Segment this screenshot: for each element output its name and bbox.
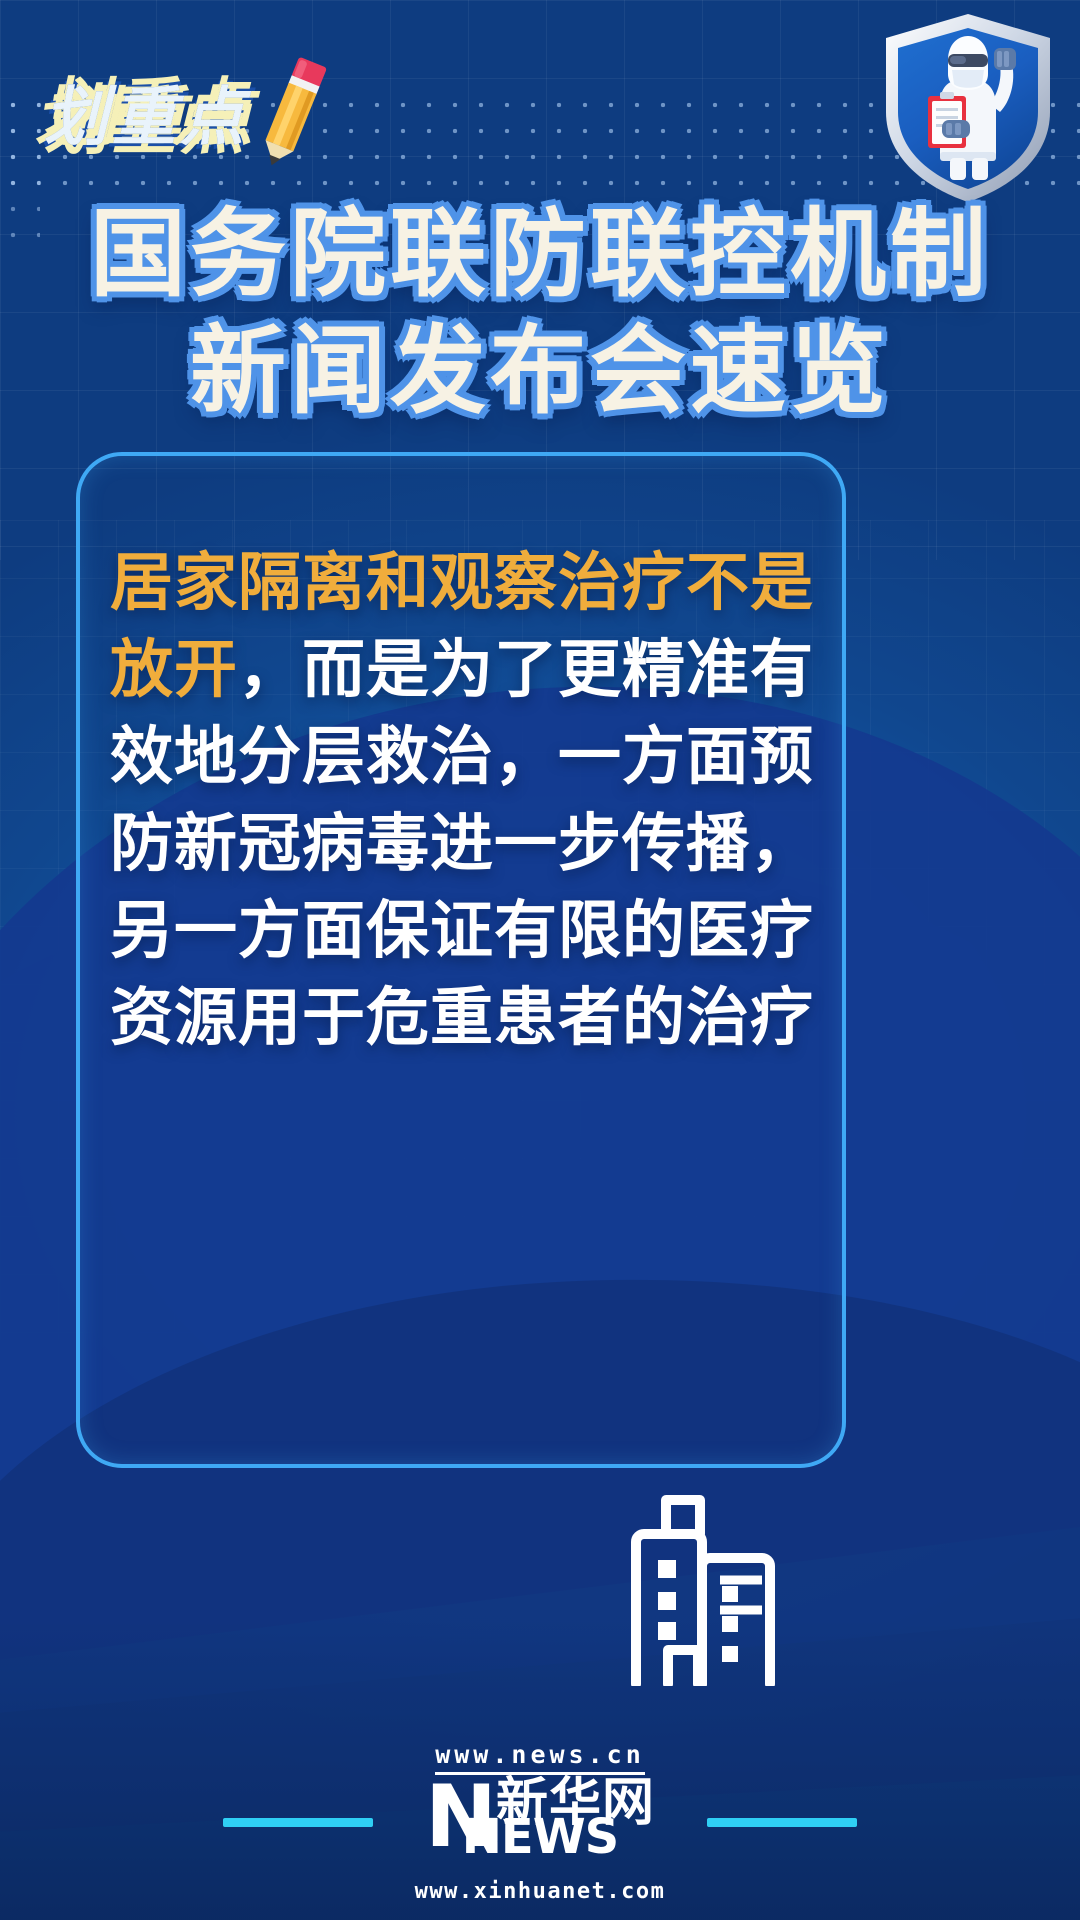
pencil-icon xyxy=(256,52,328,172)
title-line-2: 新闻发布会速览 xyxy=(0,313,1080,430)
body-statement: 居家隔离和观察治疗不是放开，而是为了更精准有效地分层救治，一方面预防新冠病毒进一… xyxy=(110,540,820,1062)
logo-url-bottom: www.xinhuanet.com xyxy=(415,1879,666,1904)
kicker-banner: 划重点 xyxy=(44,52,328,172)
city-buildings-icon xyxy=(604,1488,804,1686)
footer-rule-right xyxy=(707,1818,857,1827)
logo-news-word: NEWS xyxy=(462,1809,618,1865)
footer-rule-left xyxy=(223,1818,373,1827)
title-line-1: 国务院联防联控机制 xyxy=(0,196,1080,313)
shield-medical-worker-icon xyxy=(878,8,1058,208)
kicker-label: 划重点 xyxy=(44,66,248,158)
page-title: 国务院联防联控机制 新闻发布会速览 xyxy=(0,196,1080,430)
poster-canvas: 划重点 xyxy=(0,0,1080,1920)
xinhua-logo: www.news.cn N 新华网 NEWS www.xinhuanet.com xyxy=(415,1740,666,1904)
footer-branding: www.news.cn N 新华网 NEWS www.xinhuanet.com xyxy=(0,1740,1080,1904)
